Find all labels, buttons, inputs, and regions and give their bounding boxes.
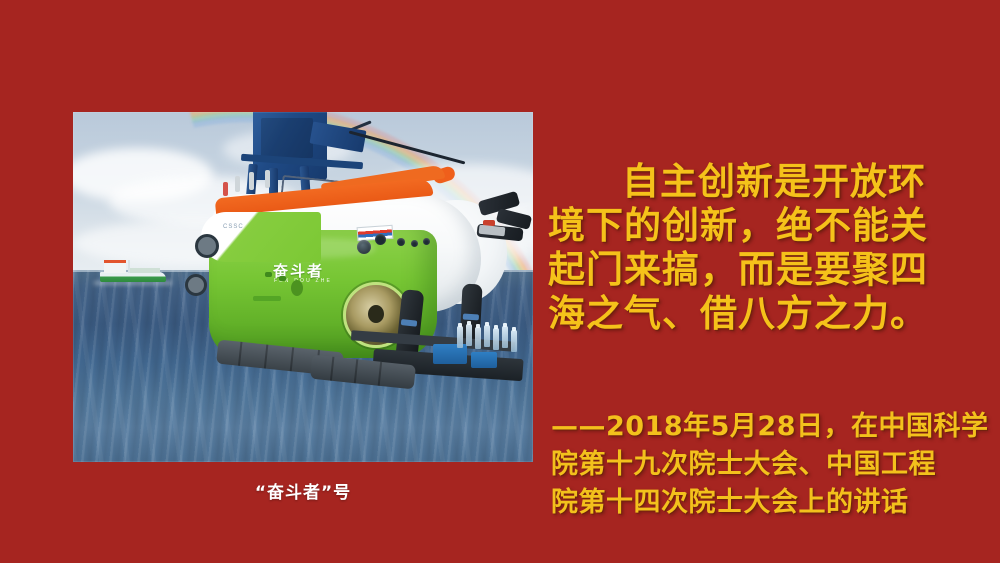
ship-mast [128, 260, 130, 273]
sample-bottle [493, 328, 499, 350]
hull-valve-wheel [195, 234, 219, 258]
quote-line: 海之气、借八方之力。 [548, 292, 948, 336]
sample-bottle [475, 327, 481, 349]
submersible-photo: CSSC 奋斗者 FEN DOU ZHE [73, 112, 533, 462]
submersible-vehicle: CSSC 奋斗者 FEN DOU ZHE [161, 112, 533, 408]
ship-superstructure [104, 260, 126, 273]
hull-vent [253, 296, 281, 301]
antenna [265, 170, 270, 188]
quote-block: 自主创新是开放环 境下的创新，绝不能关 起门来搞，而是要聚四 海之气、借八方之力… [548, 160, 948, 336]
quote-line: 自主创新是开放环 [548, 160, 948, 204]
antenna-beacon [223, 182, 228, 196]
hull-vent [265, 272, 272, 277]
hull-bow-transition [201, 212, 321, 262]
photo-caption: “奋斗者”号 [73, 478, 533, 503]
viewport [423, 238, 430, 245]
tow-cable [349, 131, 466, 165]
attribution-line: 院第十四次院士大会上的讲话 [551, 484, 951, 522]
thruster-band [401, 319, 418, 327]
skid-rib [264, 344, 268, 368]
attribution-line: ——2018年5月28日，在中国科学 [551, 408, 951, 446]
antenna [235, 176, 240, 192]
hull-hatch [291, 280, 303, 296]
sample-bottle [484, 325, 490, 347]
ship-hull [100, 272, 166, 282]
hull-valve-wheel [185, 274, 207, 296]
support-ship [100, 259, 166, 285]
viewport [411, 240, 418, 247]
sample-crate [471, 352, 497, 368]
skid-rib [354, 359, 358, 383]
viewport [397, 238, 405, 246]
antenna [249, 172, 254, 190]
slide-root: CSSC 奋斗者 FEN DOU ZHE [0, 0, 1000, 563]
skid-rib [330, 357, 334, 381]
quote-line: 境下的创新，绝不能关 [548, 204, 948, 248]
skid-rib [378, 362, 382, 386]
thruster-band [463, 314, 479, 321]
sample-bottle [457, 326, 463, 348]
hull-vent [279, 276, 286, 281]
sample-bottle [466, 324, 472, 346]
skid-rib [238, 342, 242, 366]
ship-deck [130, 268, 160, 273]
viewport [357, 240, 371, 254]
hull-badge-label: CSSC [223, 224, 244, 230]
quote-line: 起门来搞，而是要聚四 [548, 248, 948, 292]
viewport [375, 234, 386, 245]
sample-bottle [502, 326, 508, 348]
attribution-block: ——2018年5月28日，在中国科学 院第十九次院士大会、中国工程 院第十四次院… [551, 408, 951, 522]
attribution-line: 院第十九次院士大会、中国工程 [551, 446, 951, 484]
skid-rib [290, 347, 294, 371]
sample-bottle [511, 330, 517, 352]
